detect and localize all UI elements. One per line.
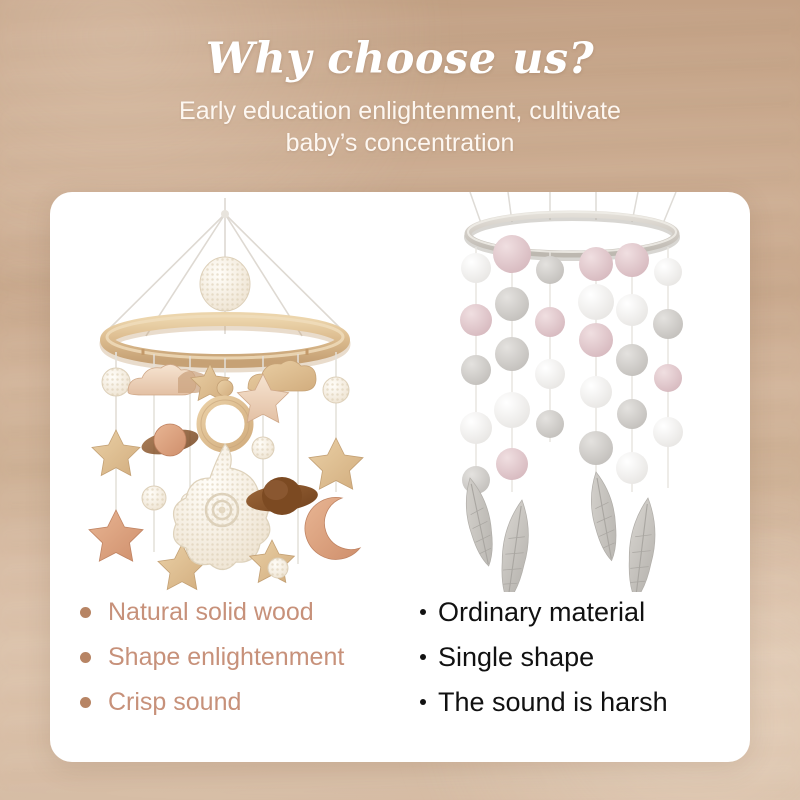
bullet-icon [80, 697, 91, 708]
list-item: Ordinary material [420, 590, 730, 635]
felt-pom-poms [460, 235, 683, 494]
center-crochet-ball [200, 257, 250, 311]
list-item: Crisp sound [80, 680, 420, 725]
bullet-icon [80, 652, 91, 663]
feature-label: Ordinary material [438, 597, 645, 628]
wooden-saturn [139, 424, 200, 459]
feature-label: Natural solid wood [108, 598, 314, 627]
wooden-bead [217, 380, 233, 396]
feature-label: Single shape [438, 642, 594, 673]
competitor-features-list: Ordinary material Single shape The sound… [420, 590, 730, 725]
competitor-product-image [400, 192, 750, 592]
felt-ball-mobile-illustration [400, 192, 750, 592]
walnut-saturn [245, 477, 319, 515]
subtitle-line-2: baby’s concentration [286, 129, 515, 157]
bullet-icon [420, 654, 426, 660]
feature-comparison-lists: Natural solid wood Shape enlightenment C… [50, 590, 750, 762]
wooden-mobile-illustration [50, 192, 400, 592]
our-product-image [50, 192, 400, 592]
list-item: Shape enlightenment [80, 635, 420, 680]
bullet-icon [420, 699, 426, 705]
subtitle-line-1: Early education enlightenment, cultivate [179, 97, 621, 125]
wooden-hoop [107, 316, 343, 365]
header: Why choose us? Early education enlighten… [0, 0, 800, 192]
list-item: The sound is harsh [420, 680, 730, 725]
list-item: Single shape [420, 635, 730, 680]
feature-label: Shape enlightenment [108, 643, 344, 672]
bullet-icon [80, 607, 91, 618]
felt-feathers [459, 470, 660, 592]
wooden-teething-ring [201, 400, 249, 448]
feature-label: The sound is harsh [438, 687, 668, 718]
product-image-stage [50, 192, 750, 592]
page-title: Why choose us? [0, 0, 800, 81]
strand-right-outer [305, 377, 363, 559]
bullet-icon [420, 609, 426, 615]
our-features-list: Natural solid wood Shape enlightenment C… [80, 590, 420, 725]
feature-label: Crisp sound [108, 688, 241, 717]
list-item: Natural solid wood [80, 590, 420, 635]
comparison-card: Natural solid wood Shape enlightenment C… [50, 192, 750, 762]
wooden-star [89, 510, 143, 561]
cord-knot [221, 210, 229, 218]
page-subtitle: Early education enlightenment, cultivate… [0, 81, 800, 159]
crescent-moon [305, 497, 360, 559]
infographic-root: Why choose us? Early education enlighten… [0, 0, 800, 800]
